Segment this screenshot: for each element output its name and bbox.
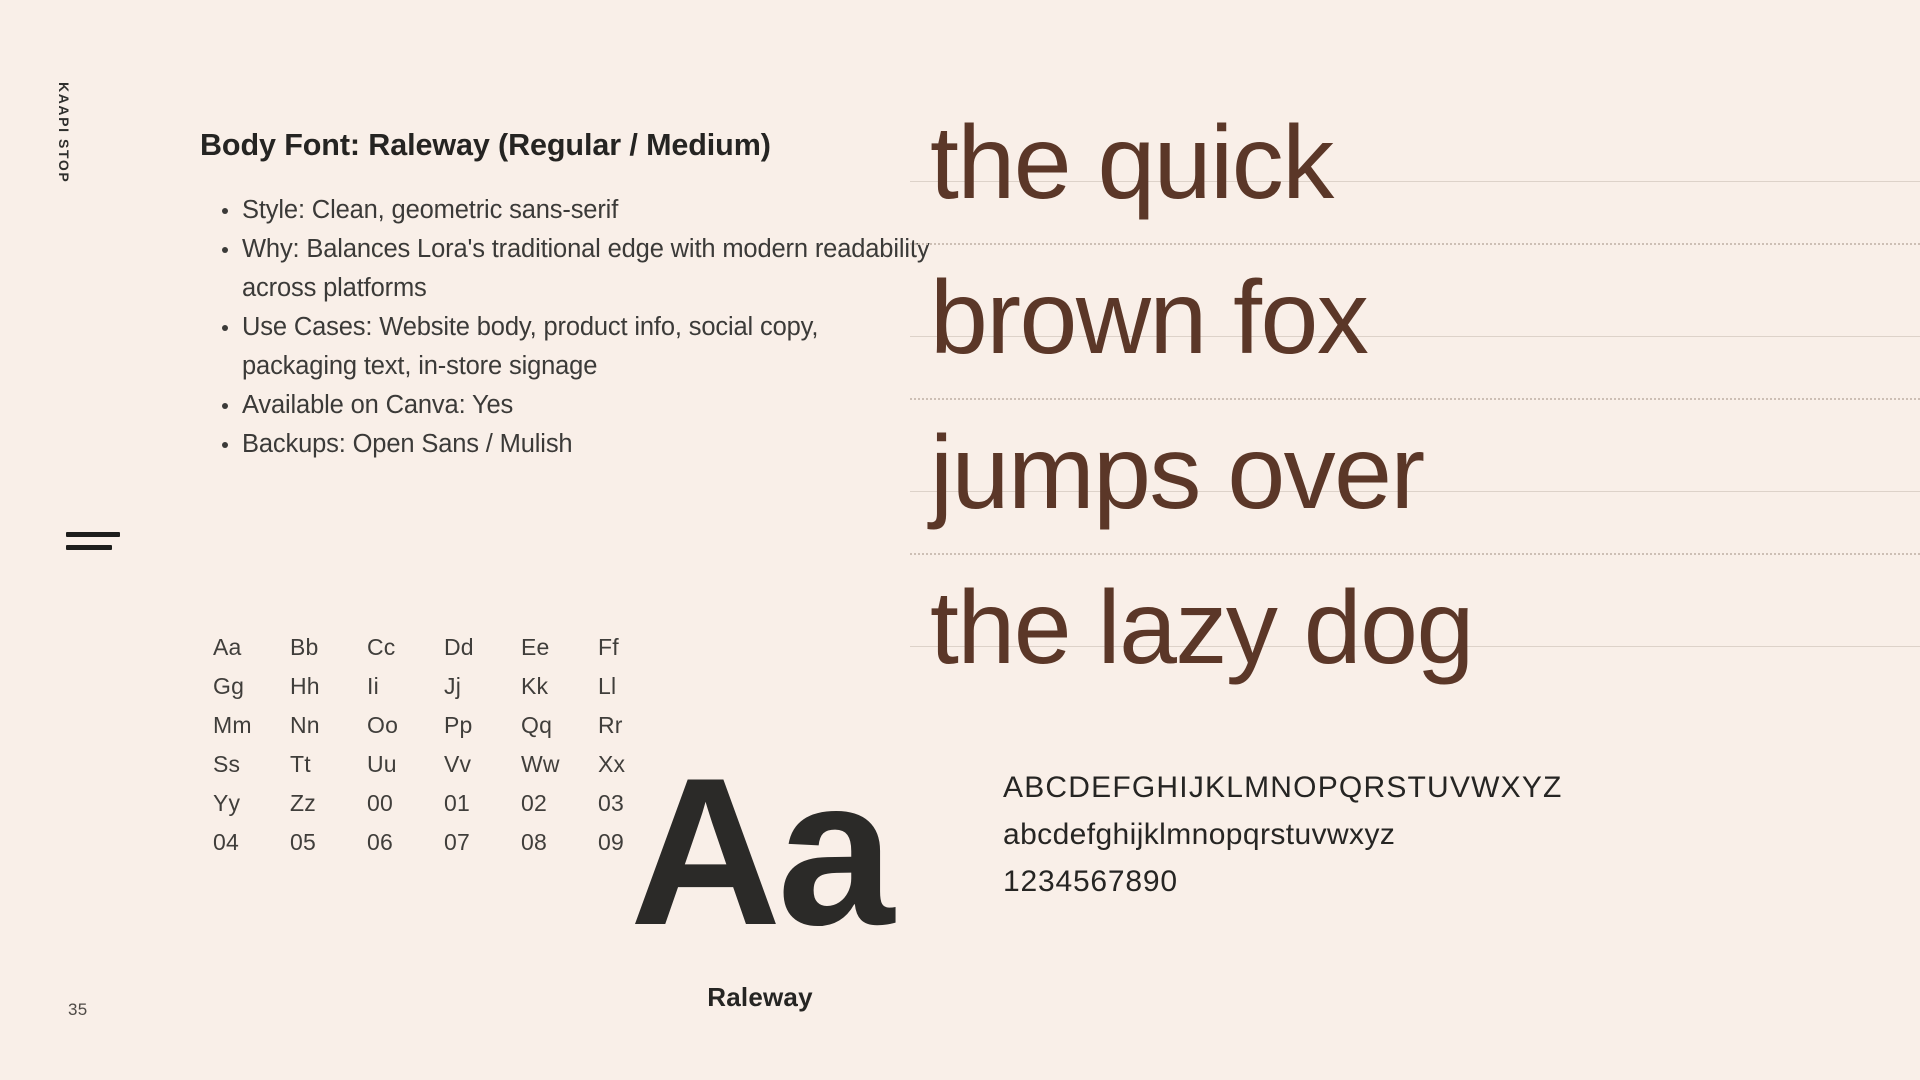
glyph-cell: Ii xyxy=(367,667,444,706)
glyph-cell: 07 xyxy=(444,823,521,862)
list-item: Use Cases: Website body, product info, s… xyxy=(200,308,940,386)
pangram-line: the quick xyxy=(930,86,1920,241)
glyph-cell: Uu xyxy=(367,745,444,784)
glyph-cell: Kk xyxy=(521,667,598,706)
glyph-cell: Dd xyxy=(444,628,521,667)
pangram-text: the quick brown fox jumps over the lazy … xyxy=(930,86,1920,706)
glyph-cell: Yy xyxy=(213,784,290,823)
page-title: Body Font: Raleway (Regular / Medium) xyxy=(200,128,940,163)
glyph-cell: Vv xyxy=(444,745,521,784)
left-content-column: Body Font: Raleway (Regular / Medium) St… xyxy=(200,128,940,464)
pangram-line: brown fox xyxy=(930,241,1920,396)
alphabet-digits: 1234567890 xyxy=(1003,858,1563,905)
divider-bar-top xyxy=(66,532,120,537)
slide-canvas: KAAPI STOP 35 Body Font: Raleway (Regula… xyxy=(0,0,1920,1080)
glyph-cell: Ll xyxy=(598,667,675,706)
glyph-cell: 04 xyxy=(213,823,290,862)
divider-mark xyxy=(66,532,122,550)
page-number: 35 xyxy=(68,1000,88,1020)
glyph-cell: 00 xyxy=(367,784,444,823)
glyph-cell: 01 xyxy=(444,784,521,823)
glyph-cell: Gg xyxy=(213,667,290,706)
glyph-cell: Oo xyxy=(367,706,444,745)
alphabet-lowercase: abcdefghijklmnopqrstuvwxyz xyxy=(1003,811,1563,858)
brand-vertical-label: KAAPI STOP xyxy=(56,82,96,222)
specimen-glyphs: Aa xyxy=(600,752,920,952)
glyph-cell: Zz xyxy=(290,784,367,823)
list-item: Backups: Open Sans / Mulish xyxy=(200,425,940,464)
glyph-cell: 02 xyxy=(521,784,598,823)
glyph-cell: Nn xyxy=(290,706,367,745)
specimen-font-name: Raleway xyxy=(600,982,920,1013)
pangram-line: the lazy dog xyxy=(930,551,1920,706)
glyph-cell: Ss xyxy=(213,745,290,784)
glyph-cell: Qq xyxy=(521,706,598,745)
glyph-cell: Tt xyxy=(290,745,367,784)
glyph-cell: 08 xyxy=(521,823,598,862)
font-feature-list: Style: Clean, geometric sans-serif Why: … xyxy=(200,191,940,464)
list-item: Available on Canva: Yes xyxy=(200,386,940,425)
glyph-cell: Cc xyxy=(367,628,444,667)
list-item: Why: Balances Lora's traditional edge wi… xyxy=(200,230,940,308)
pangram-panel: the quick brown fox jumps over the lazy … xyxy=(930,86,1920,686)
glyph-cell: Jj xyxy=(444,667,521,706)
glyph-cell: Aa xyxy=(213,628,290,667)
list-item: Style: Clean, geometric sans-serif xyxy=(200,191,940,230)
brand-vertical-label-text: KAAPI STOP xyxy=(56,82,72,183)
divider-bar-bottom xyxy=(66,545,112,550)
glyph-cell: Mm xyxy=(213,706,290,745)
alphabet-uppercase: ABCDEFGHIJKLMNOPQRSTUVWXYZ xyxy=(1003,764,1563,811)
glyph-cell: Ff xyxy=(598,628,675,667)
glyph-cell: 05 xyxy=(290,823,367,862)
pangram-line: jumps over xyxy=(930,396,1920,551)
glyph-cell: Hh xyxy=(290,667,367,706)
glyph-cell: Bb xyxy=(290,628,367,667)
glyph-cell: Ww xyxy=(521,745,598,784)
glyph-cell: Ee xyxy=(521,628,598,667)
alphabet-specimen: ABCDEFGHIJKLMNOPQRSTUVWXYZ abcdefghijklm… xyxy=(1003,764,1563,905)
font-specimen: Aa Raleway xyxy=(600,752,920,1013)
glyph-cell: Pp xyxy=(444,706,521,745)
glyph-cell: 06 xyxy=(367,823,444,862)
